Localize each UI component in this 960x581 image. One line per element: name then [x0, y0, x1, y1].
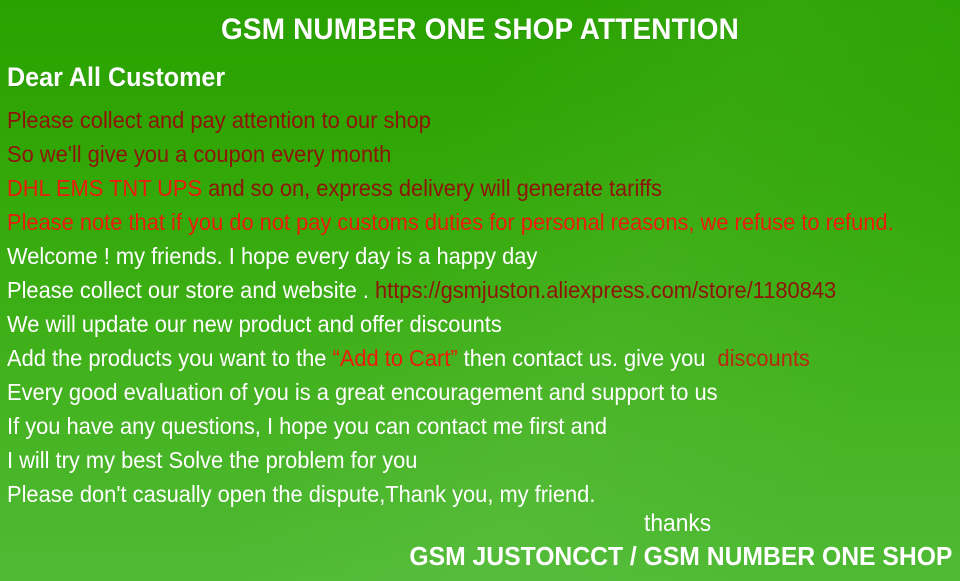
line-coupon-seg-0: So we'll give you a coupon every month — [7, 141, 391, 167]
line-couriers-tariffs-seg-1: and so on, express delivery will generat… — [202, 175, 662, 201]
line-add-to-cart-seg-2: then contact us. give you — [458, 345, 718, 371]
line-welcome: Welcome ! my friends. I hope every day i… — [7, 241, 910, 275]
line-couriers-tariffs-seg-0: DHL EMS TNT UPS — [7, 175, 202, 201]
line-couriers-tariffs: DHL EMS TNT UPS and so on, express deliv… — [7, 173, 910, 207]
line-new-product: We will update our new product and offer… — [7, 309, 910, 343]
footer-shop-signature: GSM JUSTONCCT / GSM NUMBER ONE SHOP — [48, 541, 960, 572]
line-customs-refund-seg-0: Please note that if you do not pay custo… — [7, 209, 894, 235]
message-lines: Please collect and pay attention to our … — [7, 105, 957, 513]
line-new-product-seg-0: We will update our new product and offer… — [7, 311, 502, 337]
line-store-website: Please collect our store and website . h… — [7, 275, 910, 309]
line-add-to-cart: Add the products you want to the “Add to… — [7, 343, 910, 377]
footer-thanks-text: thanks — [644, 510, 711, 537]
line-welcome-seg-0: Welcome ! my friends. I hope every day i… — [7, 243, 537, 269]
page-title: GSM NUMBER ONE SHOP ATTENTION — [34, 13, 927, 47]
line-solve-seg-0: I will try my best Solve the problem for… — [7, 447, 417, 473]
line-collect-attention: Please collect and pay attention to our … — [7, 105, 910, 139]
footer-thanks: thanks — [24, 510, 936, 538]
line-dispute: Please don't casually open the dispute,T… — [7, 479, 910, 513]
line-add-to-cart-seg-3: discounts — [718, 345, 810, 371]
line-coupon: So we'll give you a coupon every month — [7, 139, 910, 173]
line-questions: If you have any questions, I hope you ca… — [7, 411, 910, 445]
line-evaluation: Every good evaluation of you is a great … — [7, 377, 910, 411]
line-customs-refund: Please note that if you do not pay custo… — [7, 207, 910, 241]
line-solve: I will try my best Solve the problem for… — [7, 445, 910, 479]
line-store-website-seg-0: Please collect our store and website . — [7, 277, 375, 303]
greeting-heading: Dear All Customer — [7, 62, 225, 93]
banner-content: GSM NUMBER ONE SHOP ATTENTION Dear All C… — [0, 0, 960, 581]
line-store-website-seg-1: https://gsmjuston.aliexpress.com/store/1… — [375, 277, 836, 303]
line-add-to-cart-seg-1: “Add to Cart” — [333, 345, 458, 371]
line-collect-attention-seg-0: Please collect and pay attention to our … — [7, 107, 431, 133]
line-add-to-cart-seg-0: Add the products you want to the — [7, 345, 333, 371]
line-evaluation-seg-0: Every good evaluation of you is a great … — [7, 379, 718, 405]
line-questions-seg-0: If you have any questions, I hope you ca… — [7, 413, 607, 439]
line-dispute-seg-0: Please don't casually open the dispute,T… — [7, 481, 595, 507]
promo-banner: GSM NUMBER ONE SHOP ATTENTION Dear All C… — [0, 0, 960, 581]
